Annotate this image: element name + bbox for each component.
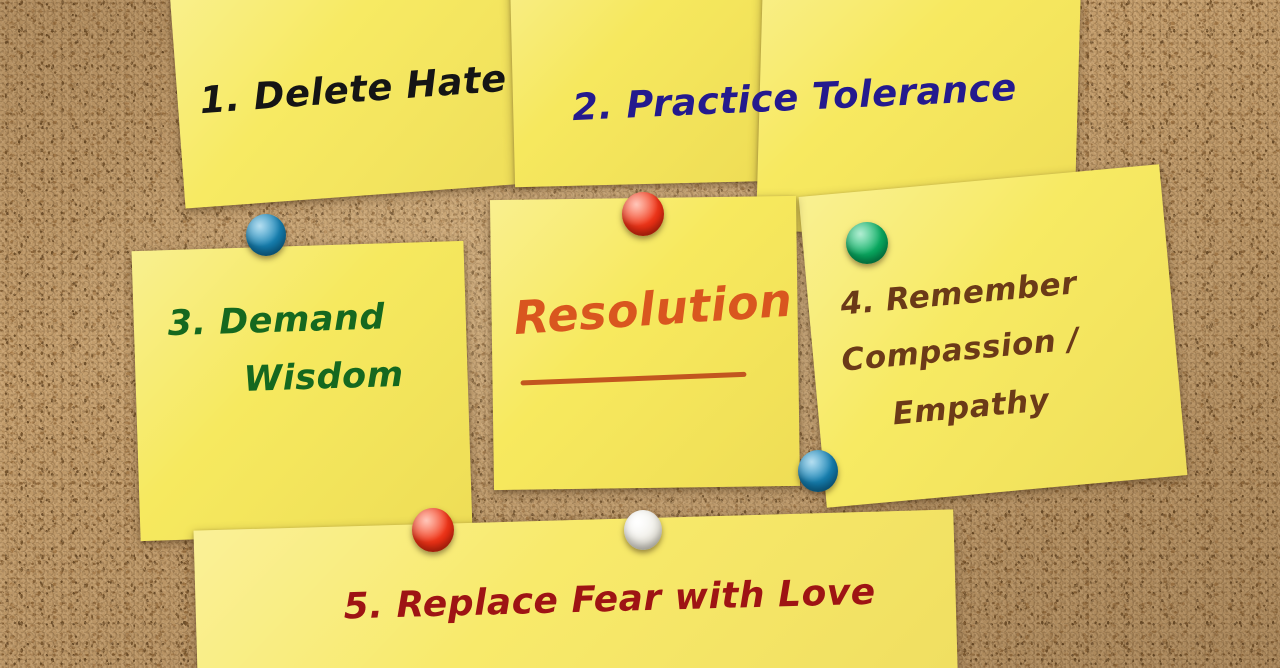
green-pushpin-icon[interactable]: [846, 222, 888, 264]
sticky-note-center-resolution[interactable]: Resolution: [490, 196, 800, 490]
blue-pushpin-icon[interactable]: [246, 214, 286, 256]
red-pushpin-icon[interactable]: [412, 508, 454, 552]
sticky-note-4-text-line1: 4. Remember: [839, 264, 1079, 325]
white-pushpin-icon[interactable]: [624, 510, 662, 550]
sticky-note-3-text-line2: Wisdom: [243, 353, 404, 403]
sticky-note-4[interactable]: 4. Remember Compassion / Empathy: [799, 164, 1188, 508]
resolution-underline: [520, 372, 746, 386]
sticky-note-3-text-line1: 3. Demand: [167, 295, 385, 347]
sticky-note-1[interactable]: 1. Delete Hate: [167, 0, 536, 209]
resolution-text: Resolution: [512, 271, 794, 348]
sticky-note-4-text-line2: Compassion /: [840, 320, 1081, 381]
sticky-note-3[interactable]: 3. Demand Wisdom: [132, 241, 473, 541]
cork-board: 1. Delete Hate 2. Practice Tolerance 3. …: [0, 0, 1280, 668]
sticky-note-5-text: 5. Replace Fear with Love: [343, 570, 876, 631]
blue-pushpin-icon[interactable]: [798, 450, 838, 492]
sticky-note-5[interactable]: 5. Replace Fear with Love: [193, 509, 958, 668]
sticky-note-4-text-line3: Empathy: [891, 381, 1051, 435]
sticky-note-1-text: 1. Delete Hate: [198, 55, 508, 125]
red-pushpin-icon[interactable]: [622, 192, 664, 236]
